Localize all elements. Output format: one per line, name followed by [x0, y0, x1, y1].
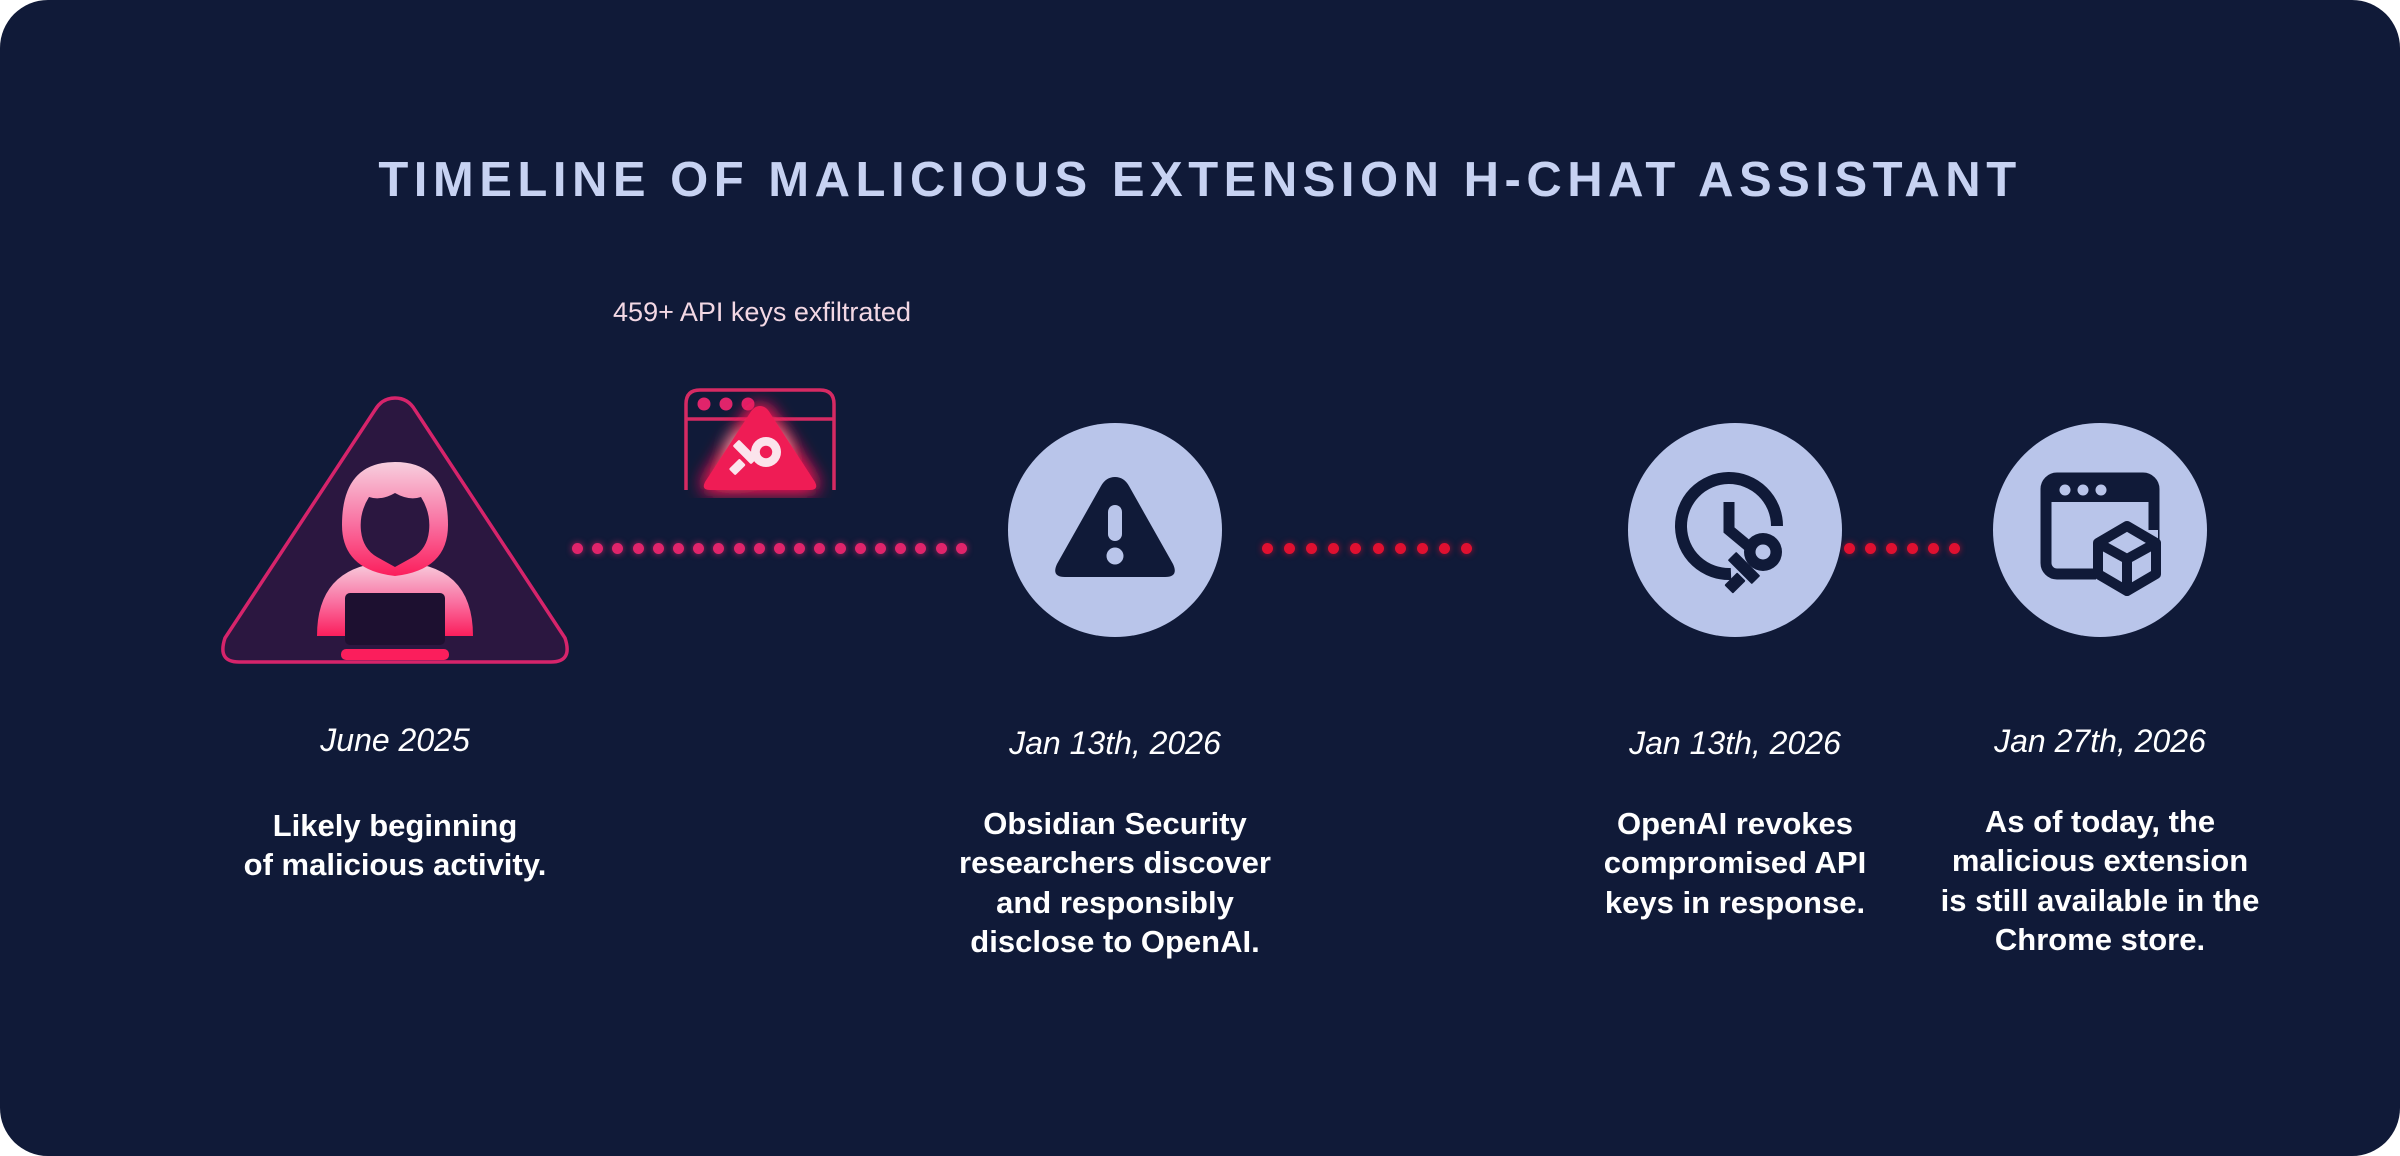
timeline-infographic: TIMELINE OF MALICIOUS EXTENSION H-CHAT A…	[0, 0, 2400, 1156]
clock-key-circle-badge	[1628, 423, 1842, 637]
connector-dot	[794, 543, 805, 554]
connector-dot	[653, 543, 664, 554]
milestone-description: Likely beginning of malicious activity.	[150, 806, 640, 885]
icon-slot	[1890, 380, 2310, 680]
connector-dot	[875, 543, 886, 554]
connector-dot	[754, 543, 765, 554]
exfiltration-callout-label: 459+ API keys exfiltrated	[572, 297, 952, 328]
browser-extension-circle-badge	[1993, 423, 2207, 637]
milestone-hacker: June 2025 Likely beginning of malicious …	[150, 380, 640, 885]
connector-dot	[673, 543, 684, 554]
clock-key-icon	[1669, 464, 1801, 596]
connector-dot	[814, 543, 825, 554]
page-title: TIMELINE OF MALICIOUS EXTENSION H-CHAT A…	[0, 152, 2400, 208]
connector-dot	[693, 543, 704, 554]
connector-dot	[734, 543, 745, 554]
browser-extension-icon	[2034, 464, 2166, 596]
warning-circle-badge	[1008, 423, 1222, 637]
milestone-date: June 2025	[150, 722, 640, 759]
key-popup-icon	[660, 378, 860, 498]
milestone-still-available: Jan 27th, 2026 As of today, the maliciou…	[1890, 380, 2310, 959]
connector-dot	[774, 543, 785, 554]
warning-triangle-icon	[1051, 471, 1179, 589]
icon-slot	[150, 380, 640, 680]
hacker-triangle-icon	[205, 380, 585, 680]
milestone-description: As of today, the malicious extension is …	[1890, 802, 2310, 959]
milestone-date: Jan 27th, 2026	[1890, 723, 2310, 760]
connector-dot	[835, 543, 846, 554]
connector-dot	[855, 543, 866, 554]
connector-dot	[713, 543, 724, 554]
